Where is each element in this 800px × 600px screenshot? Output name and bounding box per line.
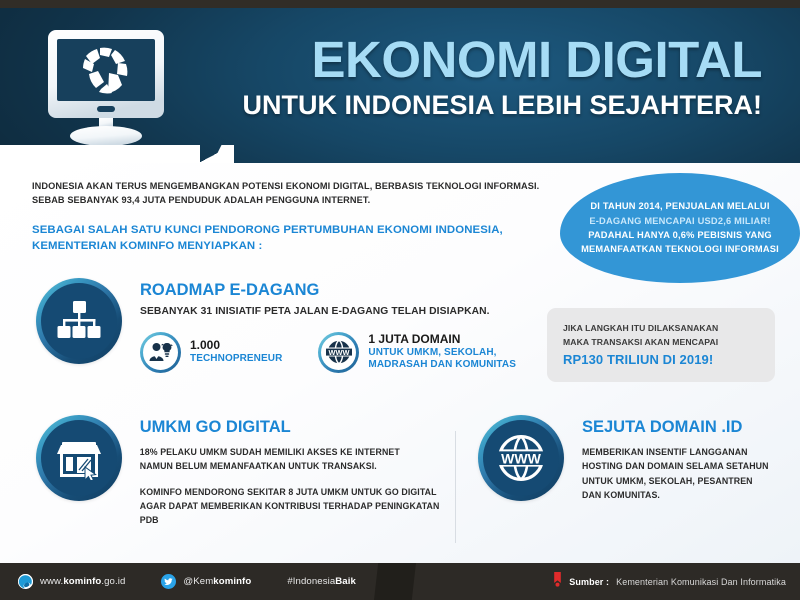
footer-hashtag[interactable]: #IndonesiaBaik — [287, 576, 356, 587]
storefront-cursor-icon — [36, 415, 122, 501]
callout-line-2: E-DAGANG MENCAPAI USD2,6 MILIAR! — [581, 214, 779, 228]
technopreneur-idea-icon — [140, 332, 181, 373]
section-domain: WWW SEJUTA DOMAIN .ID MEMBERIKAN INSENTI… — [478, 415, 800, 502]
footer-source: Sumber : Kementerian Komunikasi Dan Info… — [553, 563, 786, 600]
callout-line-1: DI TAHUN 2014, PENJUALAN MELALUI — [581, 199, 779, 213]
svg-text:WWW: WWW — [501, 450, 541, 466]
section-umkm: UMKM GO DIGITAL 18% PELAKU UMKM SUDAH ME… — [0, 415, 460, 527]
callout-line-3: PADAHAL HANYA 0,6% PEBISNIS YANG — [581, 228, 779, 242]
org-chart-icon — [36, 278, 122, 364]
grey-big-value: RP130 TRILIUN DI 2019! — [563, 352, 759, 367]
umkm-p1-line1: 18% PELAKU UMKM SUDAH MEMILIKI AKSES KE … — [140, 445, 460, 459]
callout-oval: DI TAHUN 2014, PENJUALAN MELALUI E-DAGAN… — [560, 173, 800, 283]
umkm-p2-line1: KOMINFO MENDORONG SEKITAR 8 JUTA UMKM UN… — [140, 485, 460, 499]
www-globe-icon: WWW — [318, 332, 359, 373]
footer-twitter-text: @Kemkominfo — [183, 576, 251, 587]
footer-website[interactable]: www.kominfo.go.id — [18, 574, 125, 589]
grey-line-2: MAKA TRANSAKSI AKAN MENCAPAI — [563, 336, 759, 350]
intro-line-2: SEBAB SEBANYAK 93,4 JUTA PENDUDUK ADALAH… — [32, 193, 552, 207]
www-globe-icon: WWW — [478, 415, 564, 501]
intro-highlight-1: SEBAGAI SALAH SATU KUNCI PENDORONG PERTU… — [32, 222, 552, 238]
intro-highlight-2: KEMENTERIAN KOMINFO MENYIAPKAN : — [32, 238, 552, 254]
header-banner: EKONOMI DIGITAL UNTUK INDONESIA LEBIH SE… — [0, 8, 800, 163]
infographic-page: EKONOMI DIGITAL UNTUK INDONESIA LEBIH SE… — [0, 0, 800, 600]
stat-label: UNTUK UMKM, SEKOLAH, — [368, 347, 516, 360]
content-area: INDONESIA AKAN TERUS MENGEMBANGKAN POTEN… — [0, 163, 800, 563]
top-strip — [0, 0, 800, 8]
roadmap-subtitle: SEBANYAK 31 INISIATIF PETA JALAN E-DAGAN… — [140, 304, 516, 319]
stat-label-2: MADRASAH DAN KOMUNITAS — [368, 359, 516, 372]
umkm-title: UMKM GO DIGITAL — [140, 418, 460, 436]
roadmap-stats: 1.000 TECHNOPRENEUR — [140, 332, 516, 373]
svg-text:WWW: WWW — [328, 348, 349, 357]
domain-title: SEJUTA DOMAIN .ID — [582, 418, 769, 436]
umkm-p1-line2: NAMUN BELUM MEMANFAATKAN UNTUK TRANSAKSI… — [140, 459, 460, 473]
stat-number: 1 JUTA DOMAIN — [368, 332, 516, 347]
stat-label: TECHNOPRENEUR — [190, 353, 282, 366]
stat-domain: WWW 1 JUTA DOMAIN UNTUK UMKM, SEKOLAH, M… — [318, 332, 516, 373]
footer-bar: www.kominfo.go.id @Kemkominfo #Indonesia… — [0, 563, 800, 600]
domain-line-4: DAN KOMUNITAS. — [582, 488, 769, 502]
domain-line-3: UNTUK UMKM, SEKOLAH, PESANTREN — [582, 474, 769, 488]
roadmap-title: ROADMAP E-DAGANG — [140, 281, 516, 299]
page-subtitle: UNTUK INDONESIA LEBIH SEJAHTERA! — [222, 91, 762, 119]
footer-source-value: Kementerian Komunikasi Dan Informatika — [616, 577, 786, 587]
domain-line-2: HOSTING DAN DOMAIN SELAMA SETAHUN — [582, 459, 769, 473]
footer-links: www.kominfo.go.id @Kemkominfo #Indonesia… — [18, 563, 356, 600]
intro-text: INDONESIA AKAN TERUS MENGEMBANGKAN POTEN… — [32, 179, 552, 254]
footer-notch — [374, 563, 416, 600]
monitor-globe-icon — [42, 26, 170, 148]
bookmark-pin-icon — [553, 572, 562, 592]
domain-line-1: MEMBERIKAN INSENTIF LANGGANAN — [582, 445, 769, 459]
stat-number: 1.000 — [190, 338, 282, 353]
twitter-bird-icon — [161, 574, 176, 589]
grey-line-1: JIKA LANGKAH ITU DILAKSANAKAN — [563, 322, 759, 336]
footer-twitter[interactable]: @Kemkominfo — [161, 574, 251, 589]
header-notch — [200, 145, 234, 163]
grey-callout-box: JIKA LANGKAH ITU DILAKSANAKAN MAKA TRANS… — [547, 308, 775, 382]
umkm-p2-line2: AGAR DAPAT MEMBERIKAN KONTRIBUSI TERHADA… — [140, 499, 460, 528]
footer-source-label: Sumber : — [569, 577, 609, 587]
callout-line-4: MEMANFAATKAN TEKNOLOGI INFORMASI — [581, 242, 779, 256]
footer-website-text: www.kominfo.go.id — [40, 576, 125, 587]
page-title: EKONOMI DIGITAL — [222, 34, 762, 85]
stat-technopreneur: 1.000 TECHNOPRENEUR — [140, 332, 282, 373]
kominfo-logo-icon — [18, 574, 33, 589]
header-title-block: EKONOMI DIGITAL UNTUK INDONESIA LEBIH SE… — [222, 34, 762, 119]
intro-line-1: INDONESIA AKAN TERUS MENGEMBANGKAN POTEN… — [32, 179, 552, 193]
